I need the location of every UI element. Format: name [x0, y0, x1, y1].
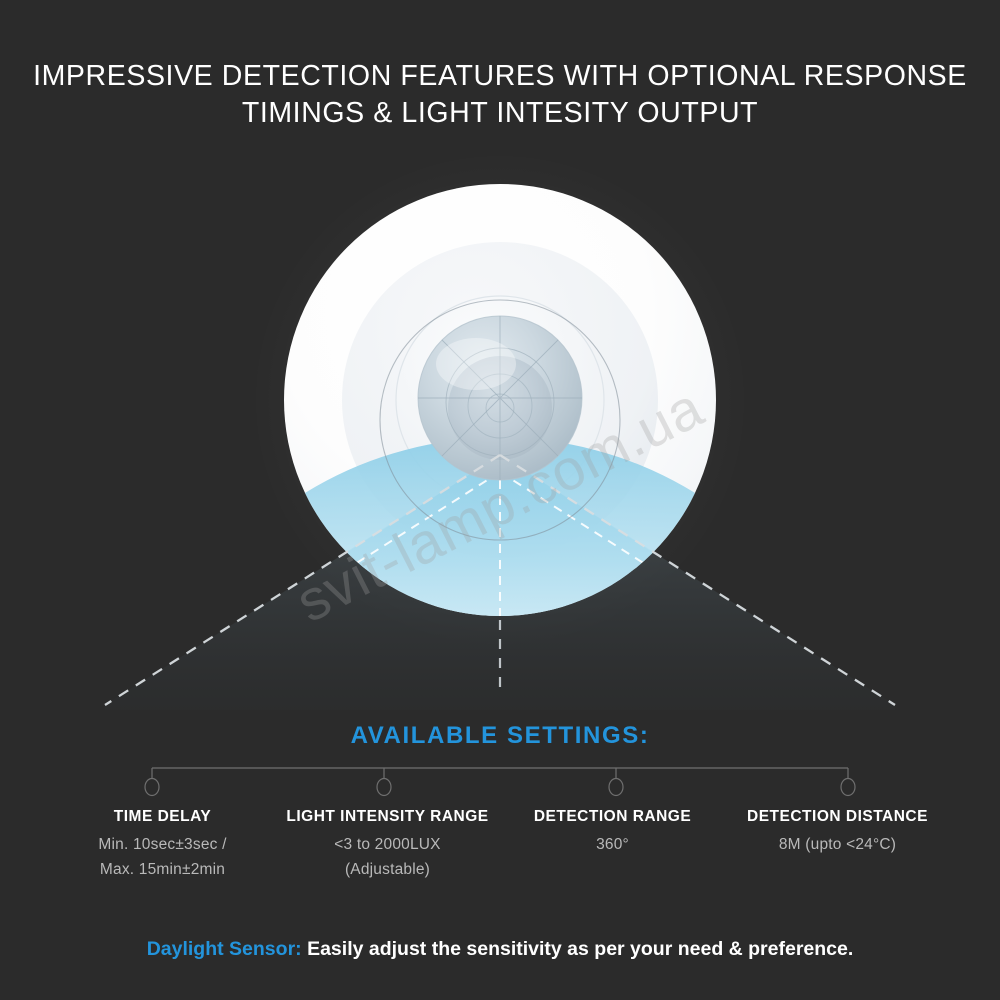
- settings-bracket-connector: [0, 755, 1000, 805]
- footer-label: Daylight Sensor:: [147, 938, 302, 960]
- setting-title: DETECTION RANGE: [502, 808, 723, 826]
- available-settings-heading: AVAILABLE SETTINGS:: [0, 722, 1000, 750]
- setting-value: <3 to 2000LUX (Adjustable): [277, 832, 498, 882]
- setting-title: TIME DELAY: [52, 808, 273, 826]
- settings-list: TIME DELAY Min. 10sec±3sec / Max. 15min±…: [50, 808, 950, 882]
- setting-item-light-intensity-range: LIGHT INTENSITY RANGE <3 to 2000LUX (Adj…: [275, 808, 500, 882]
- setting-title: DETECTION DISTANCE: [727, 808, 948, 826]
- footer-text: Easily adjust the sensitivity as per you…: [302, 938, 854, 960]
- page-title: IMPRESSIVE DETECTION FEATURES WITH OPTIO…: [0, 58, 1000, 132]
- setting-value: Min. 10sec±3sec / Max. 15min±2min: [52, 832, 273, 882]
- infographic-page: IMPRESSIVE DETECTION FEATURES WITH OPTIO…: [0, 0, 1000, 1000]
- sensor-diagram: [0, 150, 1000, 730]
- setting-value: 8M (upto <24°C): [727, 832, 948, 857]
- title-line-1: IMPRESSIVE DETECTION FEATURES WITH OPTIO…: [30, 58, 970, 95]
- setting-title: LIGHT INTENSITY RANGE: [277, 808, 498, 826]
- setting-item-detection-range: DETECTION RANGE 360°: [500, 808, 725, 857]
- product-illustration: [0, 150, 1000, 730]
- title-line-2: TIMINGS & LIGHT INTESITY OUTPUT: [30, 95, 970, 132]
- setting-item-detection-distance: DETECTION DISTANCE 8M (upto <24°C): [725, 808, 950, 857]
- footer-note: Daylight Sensor: Easily adjust the sensi…: [0, 938, 1000, 961]
- setting-value: 360°: [502, 832, 723, 857]
- setting-item-time-delay: TIME DELAY Min. 10sec±3sec / Max. 15min±…: [50, 808, 275, 882]
- lens-highlight: [436, 338, 516, 390]
